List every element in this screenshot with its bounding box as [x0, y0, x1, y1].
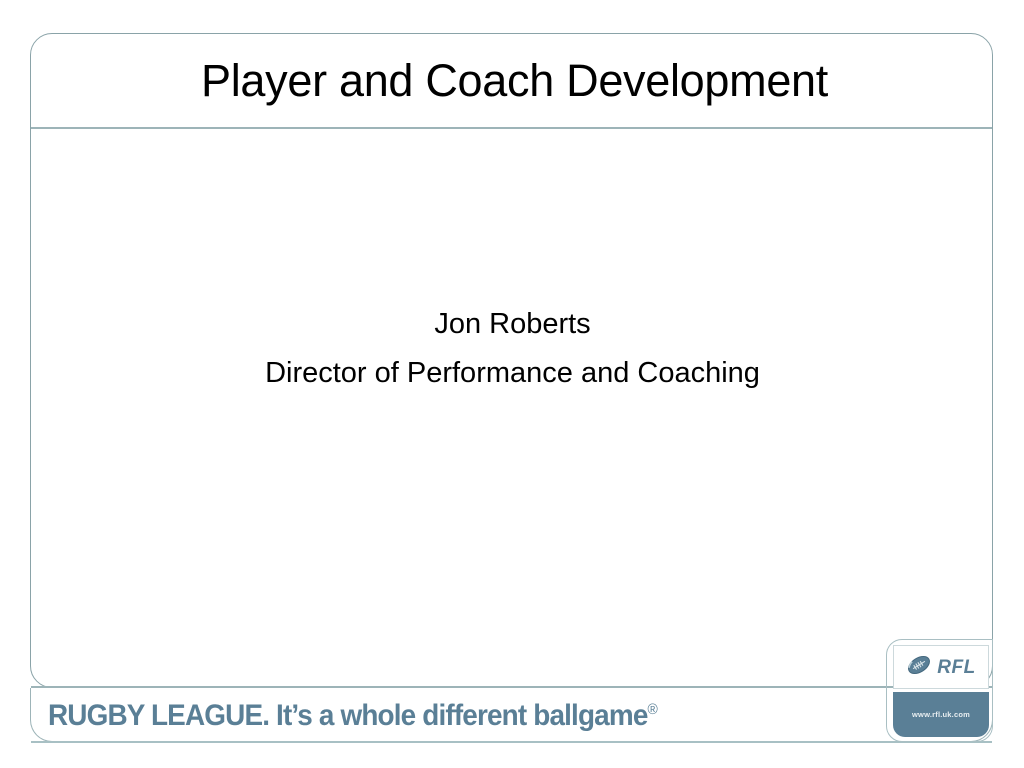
footer-bottom-rule: [31, 741, 992, 743]
title-divider: [31, 127, 992, 129]
rugby-ball-icon: [906, 654, 932, 681]
rfl-logo-text: RFL: [937, 658, 975, 677]
brand-tagline-text: RUGBY LEAGUE. It’s a whole different bal…: [48, 699, 648, 732]
registered-trademark-icon: ®: [648, 701, 658, 718]
rfl-website-badge[interactable]: www.rfl.uk.com: [893, 692, 989, 737]
footer-divider: [31, 686, 992, 688]
page-title: Player and Coach Development: [195, 58, 828, 103]
rfl-logo[interactable]: RFL: [893, 645, 989, 689]
rfl-website-url: www.rfl.uk.com: [912, 711, 970, 719]
presenter-role: Director of Performance and Coaching: [60, 349, 965, 398]
brand-tagline: RUGBY LEAGUE. It’s a whole different bal…: [48, 699, 658, 732]
presenter-name: Jon Roberts: [60, 300, 965, 349]
title-placeholder: Player and Coach Development: [31, 34, 992, 126]
presentation-slide: Player and Coach Development Jon Roberts…: [0, 0, 1024, 768]
body-placeholder: Jon Roberts Director of Performance and …: [60, 300, 965, 398]
